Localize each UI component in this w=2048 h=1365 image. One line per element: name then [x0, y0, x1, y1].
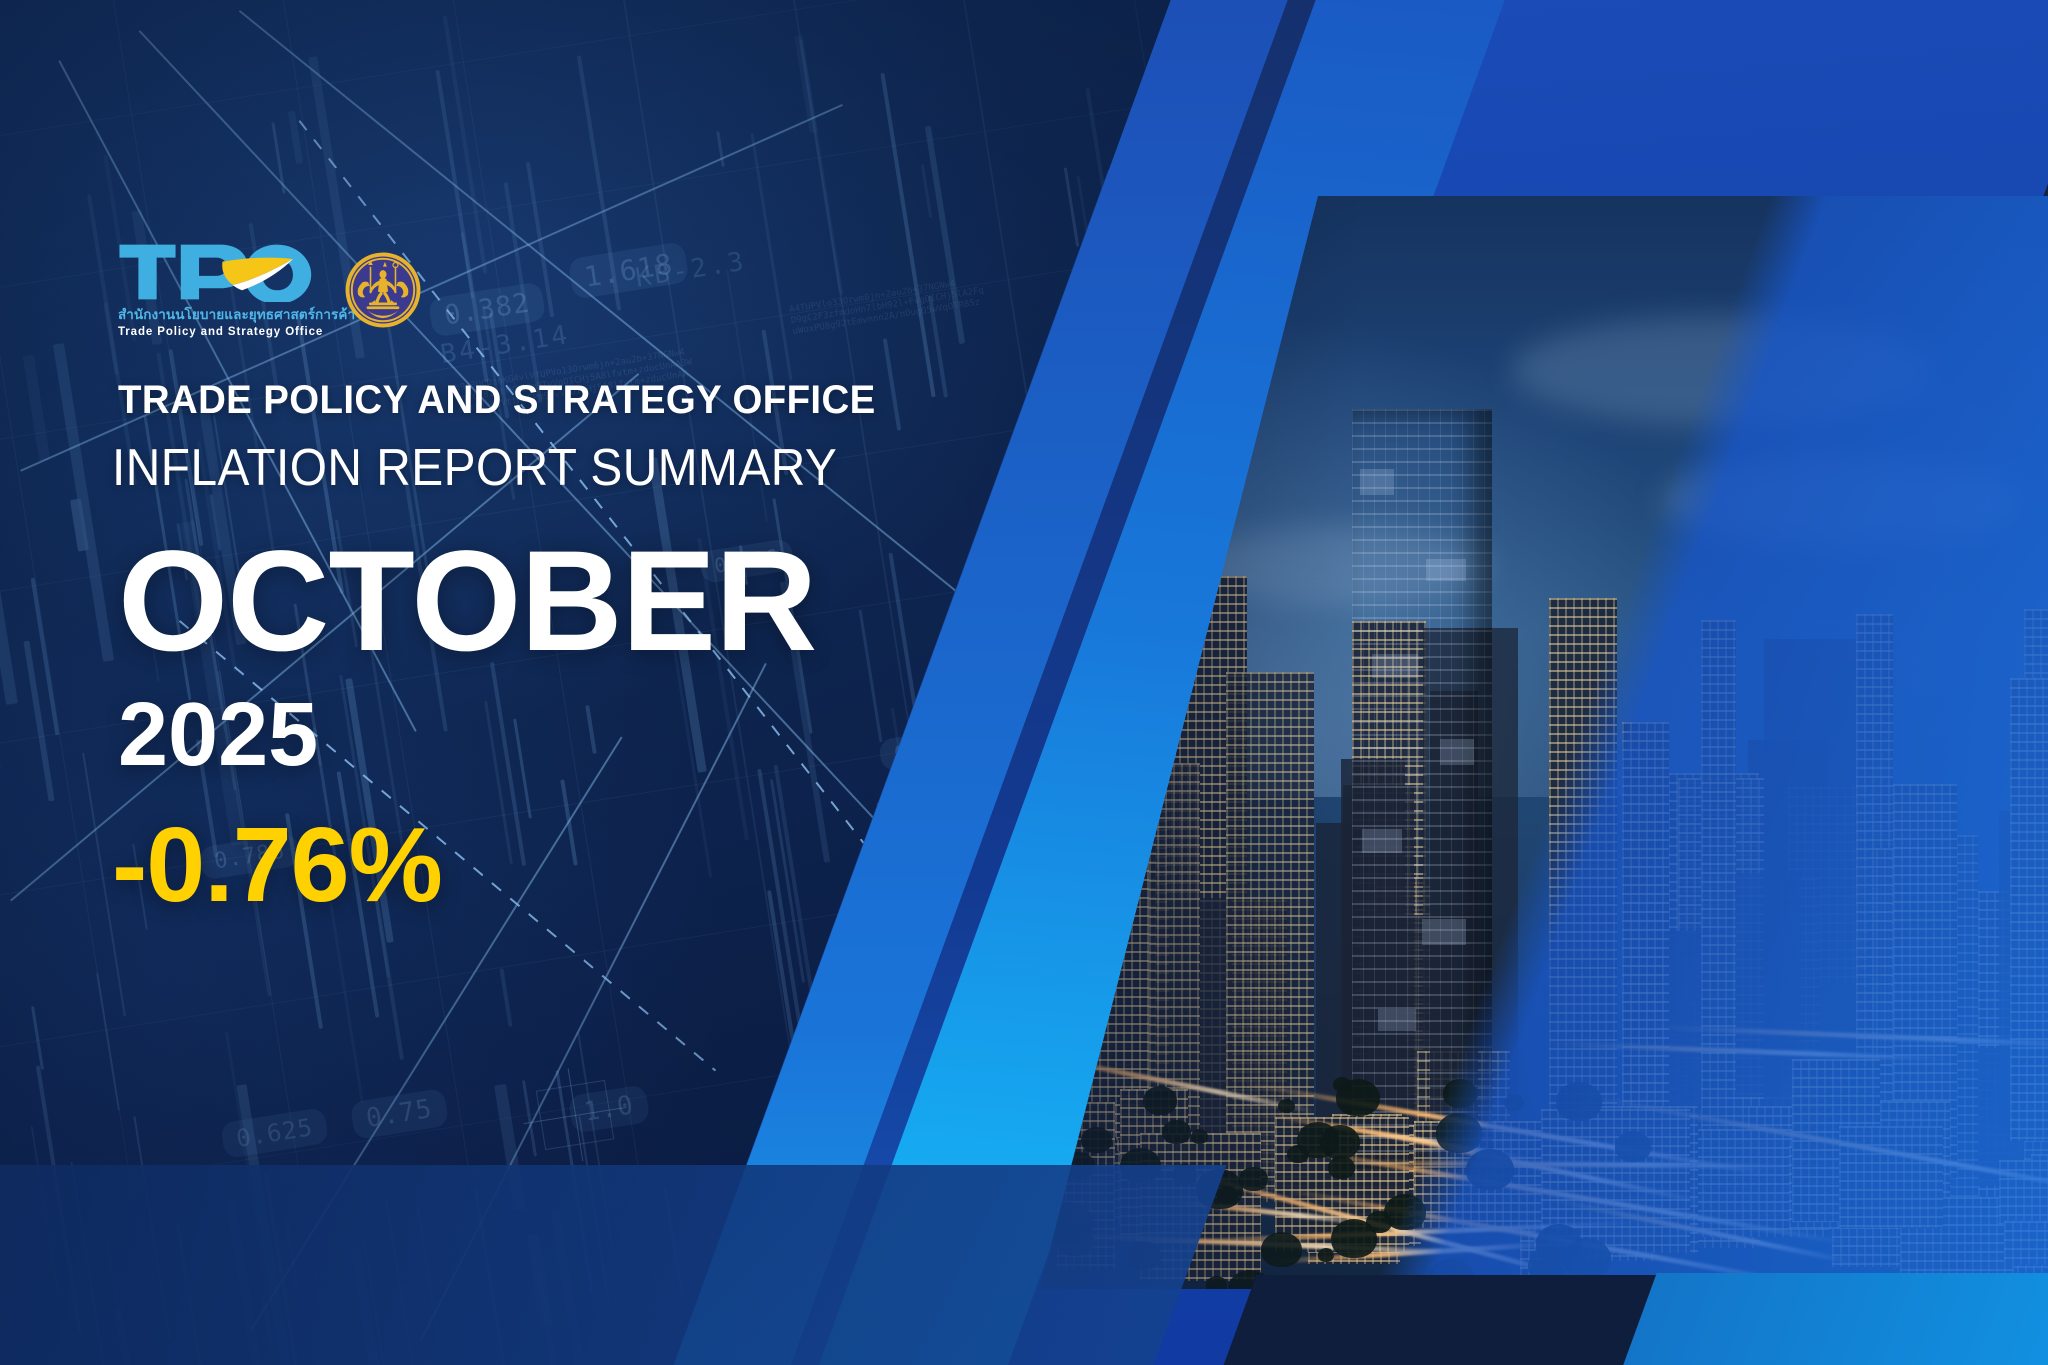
poster-content: สำนักงานนโยบายและยุทธศาสตร์การค้า Trade …	[0, 0, 1100, 1365]
thai-government-garuda-seal-icon	[344, 251, 422, 329]
tpso-subtitle-english: Trade Policy and Strategy Office	[118, 326, 314, 338]
inflation-report-poster: 0.382 1.618 0.786 0.25 0.5 0.625 0.75 1.…	[0, 0, 2048, 1365]
bottom-wedge-cyan	[1623, 1273, 2048, 1365]
tpso-logo: สำนักงานนโยบายและยุทธศาสตร์การค้า Trade …	[118, 242, 314, 338]
report-month: OCTOBER	[118, 530, 816, 673]
inflation-rate-value: -0.76%	[112, 812, 442, 918]
report-subtitle: INFLATION REPORT SUMMARY	[112, 438, 837, 498]
page-title: TRADE POLICY AND STRATEGY OFFICE	[118, 378, 876, 423]
tpso-swoosh-logo-icon	[118, 242, 314, 302]
report-year: 2025	[118, 690, 318, 780]
tpso-subtitle-thai: สำนักงานนโยบายและยุทธศาสตร์การค้า	[118, 303, 314, 325]
logo-group: สำนักงานนโยบายและยุทธศาสตร์การค้า Trade …	[118, 242, 422, 338]
